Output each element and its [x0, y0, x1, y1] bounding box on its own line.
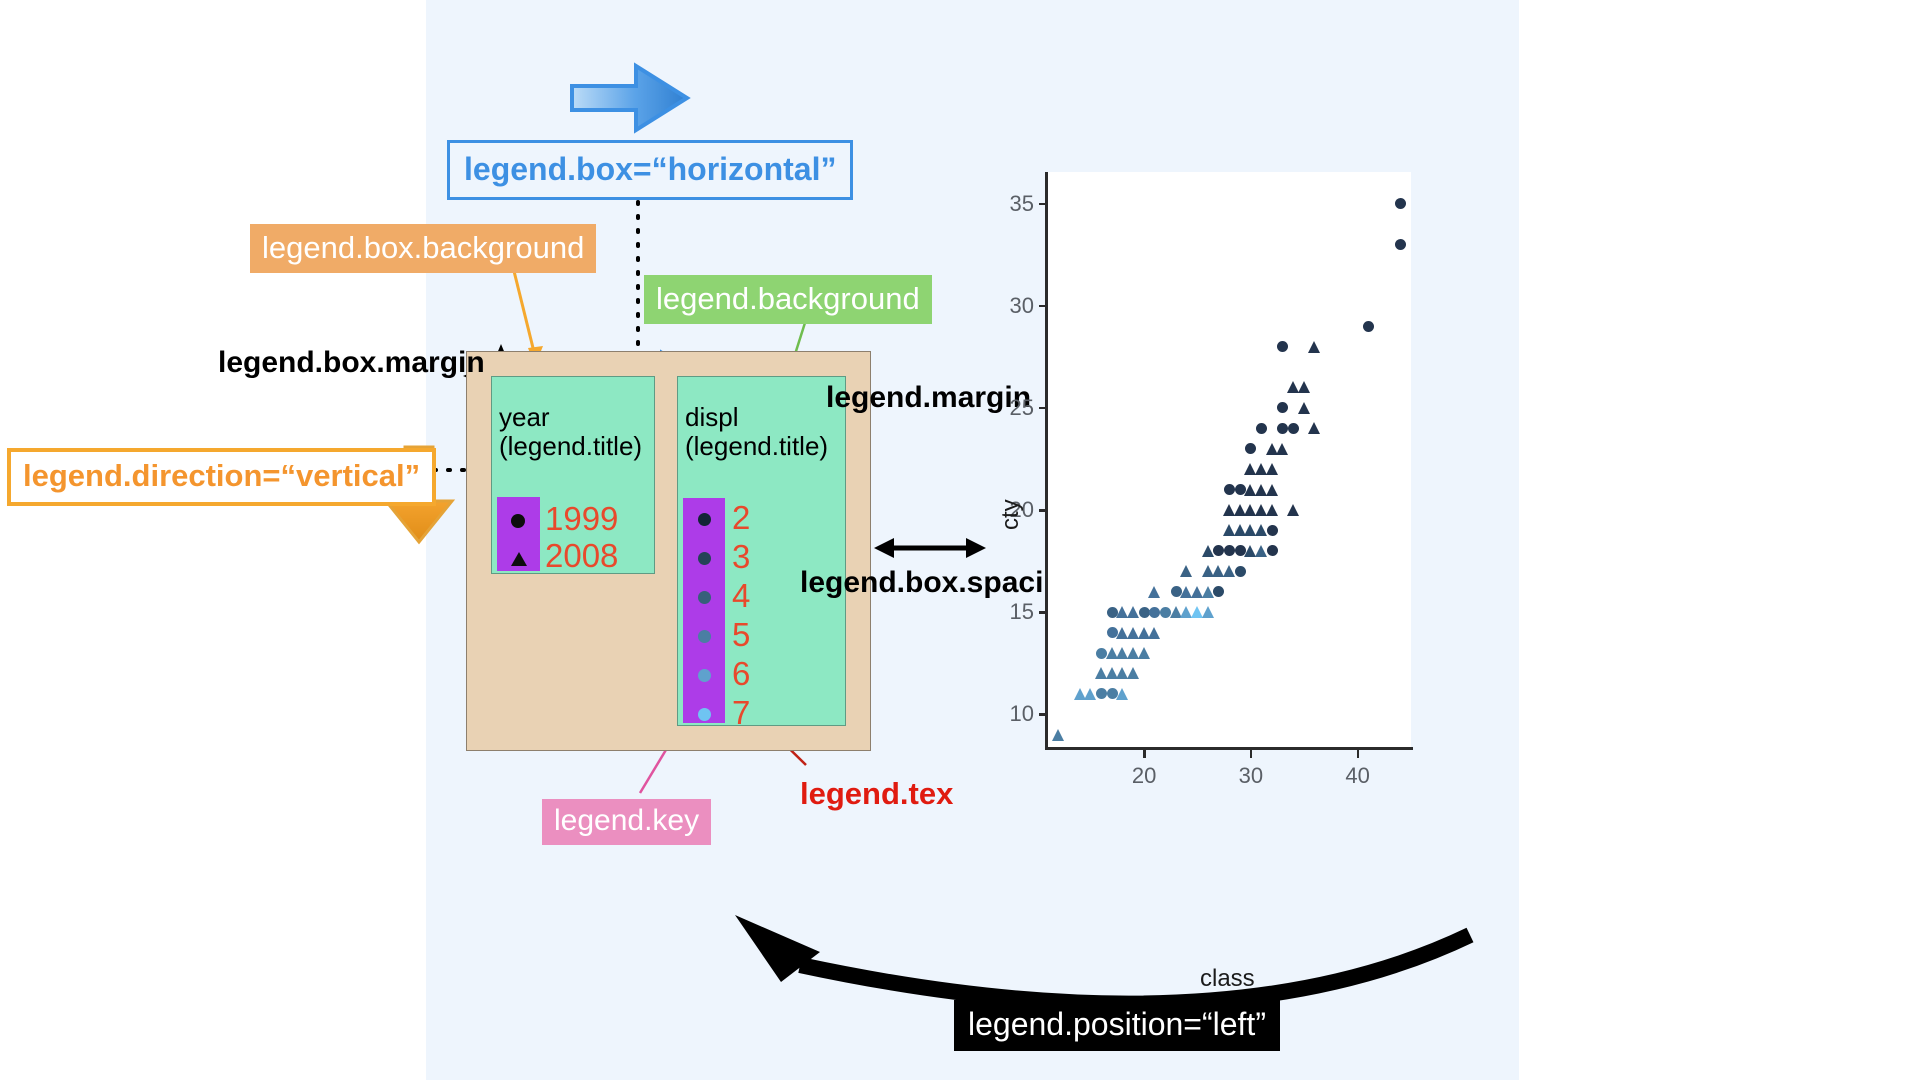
y-tick-label: 10 — [1000, 701, 1034, 727]
callout-legend-box-spacing: legend.box.spacing — [800, 568, 1080, 598]
legend-entry-label: 1999 — [545, 502, 618, 535]
legend-title-year-line2: (legend.title) — [499, 432, 642, 461]
scatter-point-triangle — [1116, 688, 1128, 700]
scatter-point-triangle — [1266, 463, 1278, 475]
x-axis-title: class — [1200, 965, 1255, 993]
scatter-point-circle — [1395, 198, 1406, 209]
scatter-point-triangle — [1148, 586, 1160, 598]
scatter-point-triangle — [1148, 627, 1160, 639]
x-tick-mark — [1143, 750, 1146, 758]
y-tick-label: 25 — [1000, 395, 1034, 421]
scatter-point-circle — [1256, 423, 1267, 434]
scatter-point-circle — [1363, 321, 1374, 332]
callout-legend-text: legend.tex — [800, 778, 953, 809]
x-tick-label: 20 — [1124, 763, 1164, 789]
scatter-point-triangle — [1084, 688, 1096, 700]
y-tick-mark — [1039, 611, 1047, 614]
slide-canvas: year (legend.title) displ (legend.title)… — [0, 0, 1920, 1080]
scatter-point-triangle — [1266, 504, 1278, 516]
legend-title-displ: displ (legend.title) — [685, 403, 828, 461]
blue-arrow-top — [570, 62, 690, 134]
legend-key-circle-icon — [511, 514, 525, 528]
legend-key-circle-icon — [698, 591, 711, 604]
x-tick-label: 30 — [1231, 763, 1271, 789]
callout-legend-position[interactable]: legend.position=“left” — [954, 1000, 1280, 1051]
callout-legend-box-margin: legend.box.margin — [218, 348, 485, 378]
scatter-point-circle — [1235, 566, 1246, 577]
y-tick-mark — [1039, 203, 1047, 206]
y-tick-mark — [1039, 713, 1047, 716]
scatter-point-triangle — [1276, 443, 1288, 455]
callout-legend-background[interactable]: legend.background — [644, 275, 932, 324]
legend-title-year: year (legend.title) — [499, 403, 642, 461]
scatter-point-circle — [1139, 607, 1150, 618]
legend-key-circle-icon — [698, 708, 711, 721]
legend-title-displ-line1: displ — [685, 403, 828, 432]
scatter-point-triangle — [1223, 565, 1235, 577]
scatter-point-triangle — [1266, 484, 1278, 496]
legend-key-circle-icon — [698, 513, 711, 526]
y-axis-line — [1045, 172, 1048, 750]
legend-key-circle-icon — [698, 669, 711, 682]
legend-entry-label: 3 — [732, 540, 750, 573]
callout-legend-direction[interactable]: legend.direction=“vertical” — [7, 448, 436, 506]
legend-entry-label: 6 — [732, 657, 750, 690]
scatter-point-circle — [1288, 423, 1299, 434]
scatter-point-triangle — [1138, 647, 1150, 659]
scatter-point-triangle — [1127, 606, 1139, 618]
legend-title-displ-line2: (legend.title) — [685, 432, 828, 461]
scatter-point-triangle — [1308, 422, 1320, 434]
y-tick-mark — [1039, 305, 1047, 308]
legend-title-year-line1: year — [499, 403, 642, 432]
legend-key-circle-icon — [698, 552, 711, 565]
x-tick-mark — [1250, 750, 1253, 758]
scatter-point-triangle — [1298, 381, 1310, 393]
x-tick-mark — [1357, 750, 1360, 758]
legend-entry-label: 2 — [732, 501, 750, 534]
y-tick-label: 15 — [1000, 599, 1034, 625]
scatter-point-triangle — [1255, 545, 1267, 557]
legend-key-strip-displ — [683, 498, 725, 723]
scatter-point-triangle — [1202, 545, 1214, 557]
scatter-point-triangle — [1202, 586, 1214, 598]
callout-legend-box-horizontal[interactable]: legend.box=“horizontal” — [447, 140, 853, 200]
scatter-point-triangle — [1180, 565, 1192, 577]
scatter-point-triangle — [1287, 504, 1299, 516]
scatter-point-triangle — [1052, 729, 1064, 741]
y-axis-title: cty — [997, 499, 1025, 530]
y-tick-mark — [1039, 407, 1047, 410]
legend-entry-label: 2008 — [545, 539, 618, 572]
scatter-point-triangle — [1298, 402, 1310, 414]
scatter-plot-panel — [1046, 172, 1411, 749]
scatter-point-triangle — [1308, 341, 1320, 353]
callout-legend-key[interactable]: legend.key — [542, 799, 711, 845]
scatter-point-triangle — [1202, 606, 1214, 618]
callout-legend-box-background[interactable]: legend.box.background — [250, 224, 596, 273]
legend-entry-label: 7 — [732, 696, 750, 729]
scatter-point-circle — [1267, 525, 1278, 536]
scatter-point-circle — [1149, 607, 1160, 618]
scatter-point-circle — [1395, 239, 1406, 250]
y-tick-label: 30 — [1000, 293, 1034, 319]
scatter-point-triangle — [1255, 524, 1267, 536]
legend-key-triangle-icon — [511, 552, 527, 566]
legend-entry-label: 5 — [732, 618, 750, 651]
y-tick-label: 35 — [1000, 191, 1034, 217]
x-tick-label: 40 — [1338, 763, 1378, 789]
scatter-point-triangle — [1127, 667, 1139, 679]
y-tick-mark — [1039, 509, 1047, 512]
legend-key-circle-icon — [698, 630, 711, 643]
legend-entry-label: 4 — [732, 579, 750, 612]
